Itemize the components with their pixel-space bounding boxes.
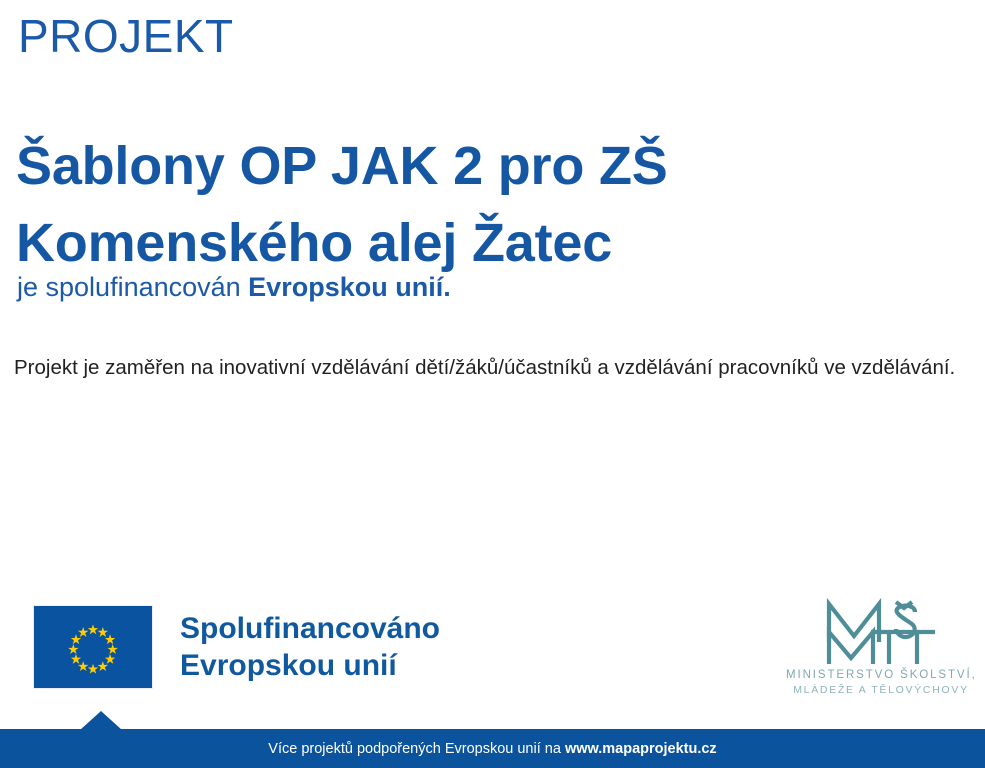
msmt-ministry-line-1: MINISTERSTVO ŠKOLSTVÍ, xyxy=(786,668,976,683)
footer-text-prefix: Více projektů podpořených Evropskou unií… xyxy=(268,741,565,757)
footer-url[interactable]: www.mapaprojektu.cz xyxy=(565,741,717,757)
eu-logo-text-line-1: Spolufinancováno xyxy=(180,610,440,647)
eu-logo-text-line-2: Evropskou unií xyxy=(180,647,440,684)
eu-logo: Spolufinancováno Evropskou unií xyxy=(33,605,440,689)
eu-logo-text: Spolufinancováno Evropskou unií xyxy=(180,610,440,684)
footer-text: Více projektů podpořených Evropskou unií… xyxy=(268,739,716,759)
page-title-line-1: Šablony OP JAK 2 pro ZŠ xyxy=(16,128,916,205)
eu-flag-icon xyxy=(33,605,153,689)
kicker-label: PROJEKT xyxy=(18,8,234,64)
project-description: Projekt je zaměřen na inovativní vzděláv… xyxy=(14,354,976,382)
cofinancing-statement-prefix: je spolufinancován xyxy=(17,272,248,302)
cofinancing-statement-strong: Evropskou unií. xyxy=(248,272,451,302)
msmt-ministry-line-2: MLÁDEŽE A TĚLOVÝCHOVY xyxy=(786,683,976,697)
msmt-logo: MINISTERSTVO ŠKOLSTVÍ, MLÁDEŽE A TĚLOVÝC… xyxy=(786,596,976,697)
project-poster: PROJEKT Šablony OP JAK 2 pro ZŠ Komenské… xyxy=(0,0,985,768)
cofinancing-statement: je spolufinancován Evropskou unií. xyxy=(17,270,451,304)
msmt-monogram-icon xyxy=(786,596,976,668)
bar-notch-triangle xyxy=(80,711,122,730)
page-title: Šablony OP JAK 2 pro ZŠ Komenského alej … xyxy=(16,128,916,282)
footer-bar: Více projektů podpořených Evropskou unií… xyxy=(0,729,985,768)
